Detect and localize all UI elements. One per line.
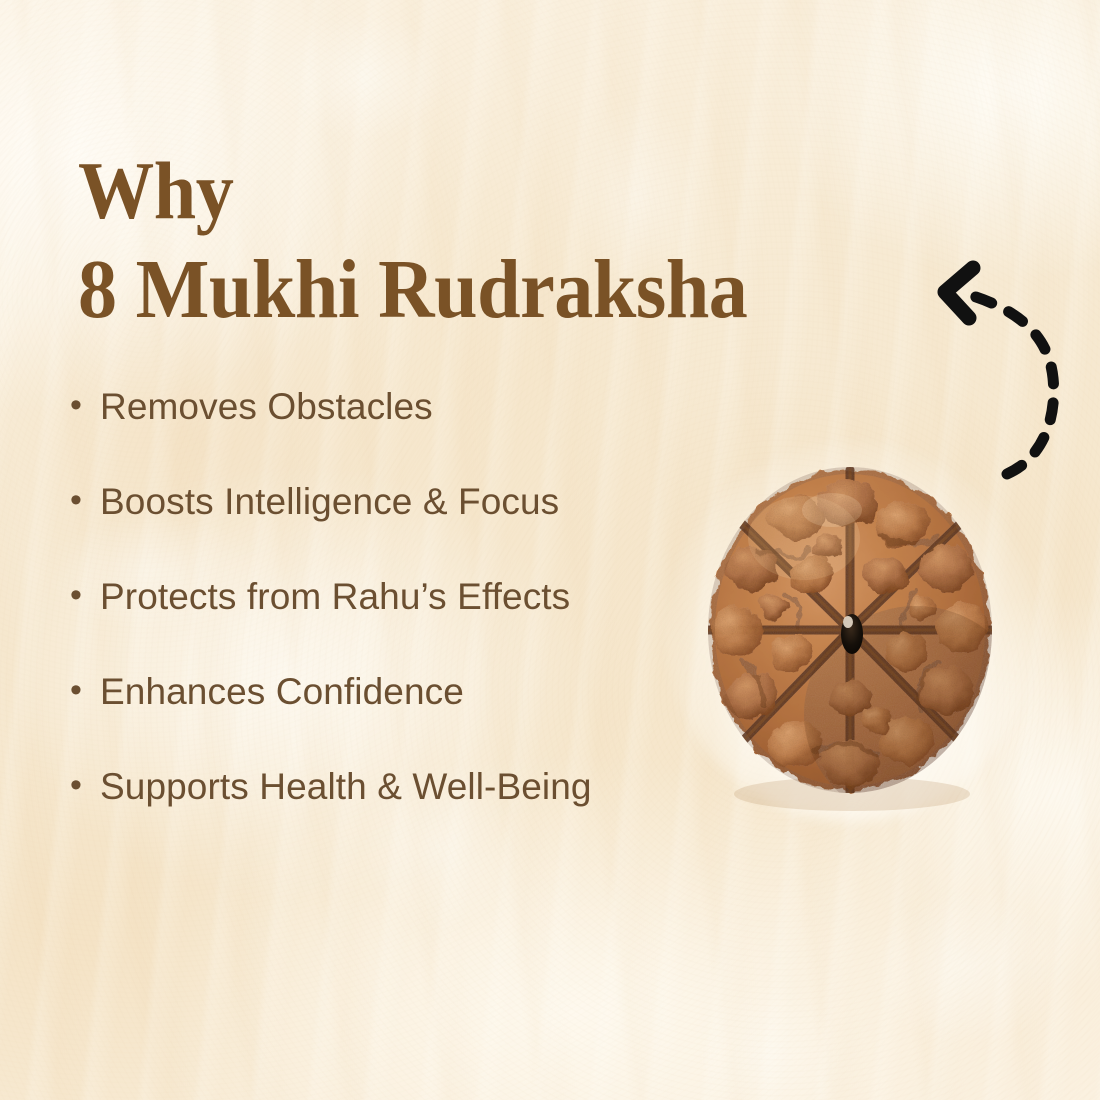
- list-item: • Protects from Rahu’s Effects: [70, 578, 770, 673]
- list-item: • Removes Obstacles: [70, 388, 770, 483]
- rudraksha-bead-image: [700, 452, 1000, 812]
- benefits-list: • Removes Obstacles • Boosts Intelligenc…: [70, 388, 770, 863]
- bullet-icon: •: [70, 388, 100, 422]
- benefit-label: Supports Health & Well-Being: [100, 768, 770, 805]
- page-title-line-2: 8 Mukhi Rudraksha: [78, 240, 896, 339]
- list-item: • Supports Health & Well-Being: [70, 768, 770, 863]
- page-title-line-1: Why: [78, 143, 896, 240]
- bullet-icon: •: [70, 768, 100, 802]
- bullet-icon: •: [70, 578, 100, 612]
- bullet-icon: •: [70, 483, 100, 517]
- list-item: • Enhances Confidence: [70, 673, 770, 768]
- poster-canvas: Why 8 Mukhi Rudraksha • Removes Obstacle…: [0, 0, 1100, 1100]
- page-title: Why 8 Mukhi Rudraksha: [78, 143, 958, 339]
- benefit-label: Enhances Confidence: [100, 673, 770, 710]
- bullet-icon: •: [70, 673, 100, 707]
- list-item: • Boosts Intelligence & Focus: [70, 483, 770, 578]
- benefit-label: Removes Obstacles: [100, 388, 770, 425]
- benefit-label: Boosts Intelligence & Focus: [100, 483, 770, 520]
